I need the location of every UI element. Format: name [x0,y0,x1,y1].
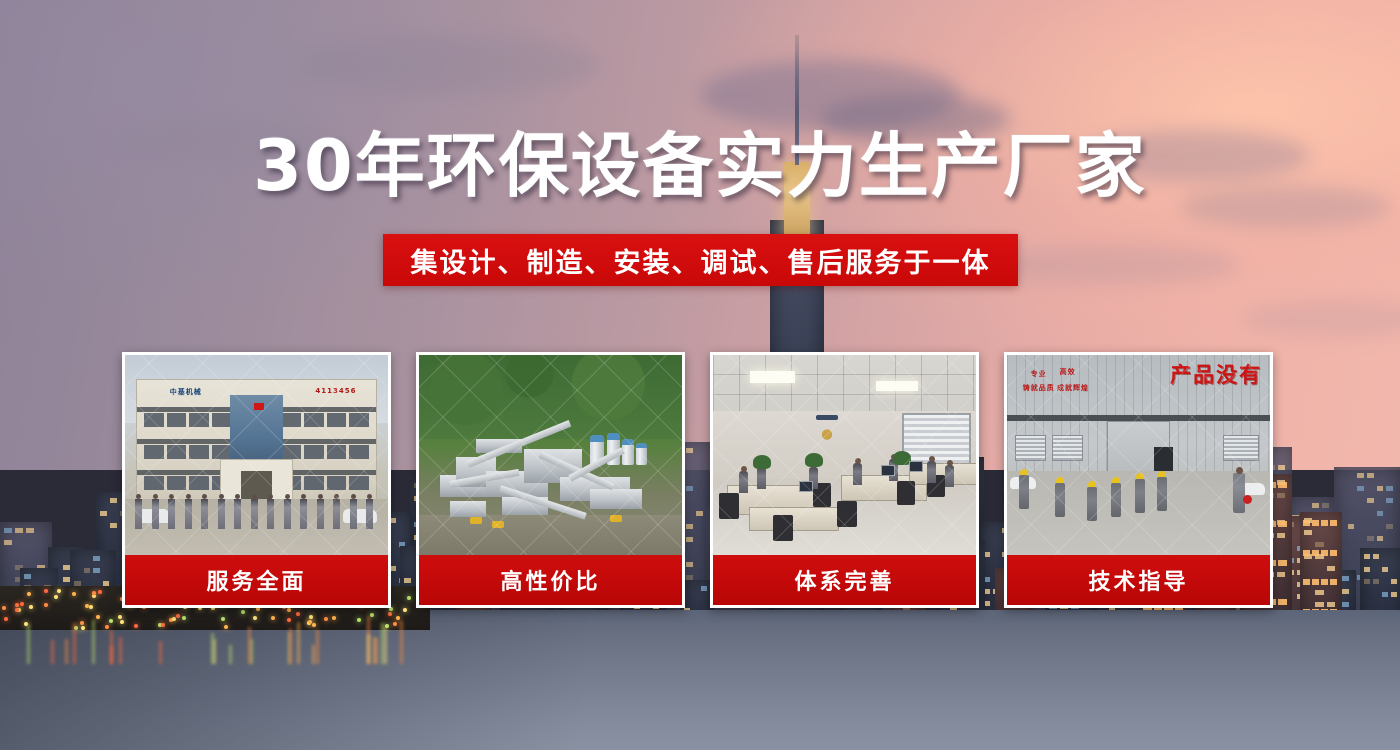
factory-small-text-3: 铸就品质 [1023,383,1055,393]
card-caption-text: 服务全面 [206,564,306,596]
building-phone-text: 4113456 [315,387,356,395]
photo-building: 中基机械 4113456 [125,355,388,555]
building-sign-text: 中基机械 [170,387,202,397]
card-photo-office [713,355,976,555]
feature-card[interactable]: 产品没有 专业 高效 铸就品质 成就辉煌 [1004,352,1273,608]
river-sheen [0,610,1400,750]
card-caption-bar: 服务全面 [125,555,388,605]
feature-card[interactable]: 中基机械 4113456 服务全面 [122,352,391,608]
subtitle-banner: 集设计、制造、安装、调试、售后服务于一体 [383,234,1018,286]
photo-factory-workers: 产品没有 专业 高效 铸就品质 成就辉煌 [1007,355,1270,555]
card-photo-workers: 产品没有 专业 高效 铸就品质 成就辉煌 [1007,355,1270,555]
card-caption-bar: 技术指导 [1007,555,1270,605]
promo-banner: 30年环保设备实力生产厂家 集设计、制造、安装、调试、售后服务于一体 [0,0,1400,750]
factory-small-text-2: 高效 [1060,367,1076,377]
card-caption-bar: 高性价比 [419,555,682,605]
card-photo-building: 中基机械 4113456 [125,355,388,555]
factory-small-text-1: 专业 [1031,369,1047,379]
subtitle-text: 集设计、制造、安装、调试、售后服务于一体 [411,241,991,280]
feature-card[interactable]: 体系完善 [710,352,979,608]
feature-card[interactable]: 高性价比 [416,352,685,608]
photo-aerial-plant [419,355,682,555]
feature-card-grid: 中基机械 4113456 服务全面 [122,352,1278,608]
card-caption-text: 技术指导 [1088,564,1188,596]
photo-office-interior [713,355,976,555]
card-photo-plant [419,355,682,555]
factory-small-text-4: 成就辉煌 [1057,383,1089,393]
factory-slogan-text: 产品没有 [1170,359,1262,389]
card-caption-text: 高性价比 [500,564,600,596]
page-title: 30年环保设备实力生产厂家 [0,128,1400,205]
card-caption-text: 体系完善 [794,564,894,596]
card-caption-bar: 体系完善 [713,555,976,605]
